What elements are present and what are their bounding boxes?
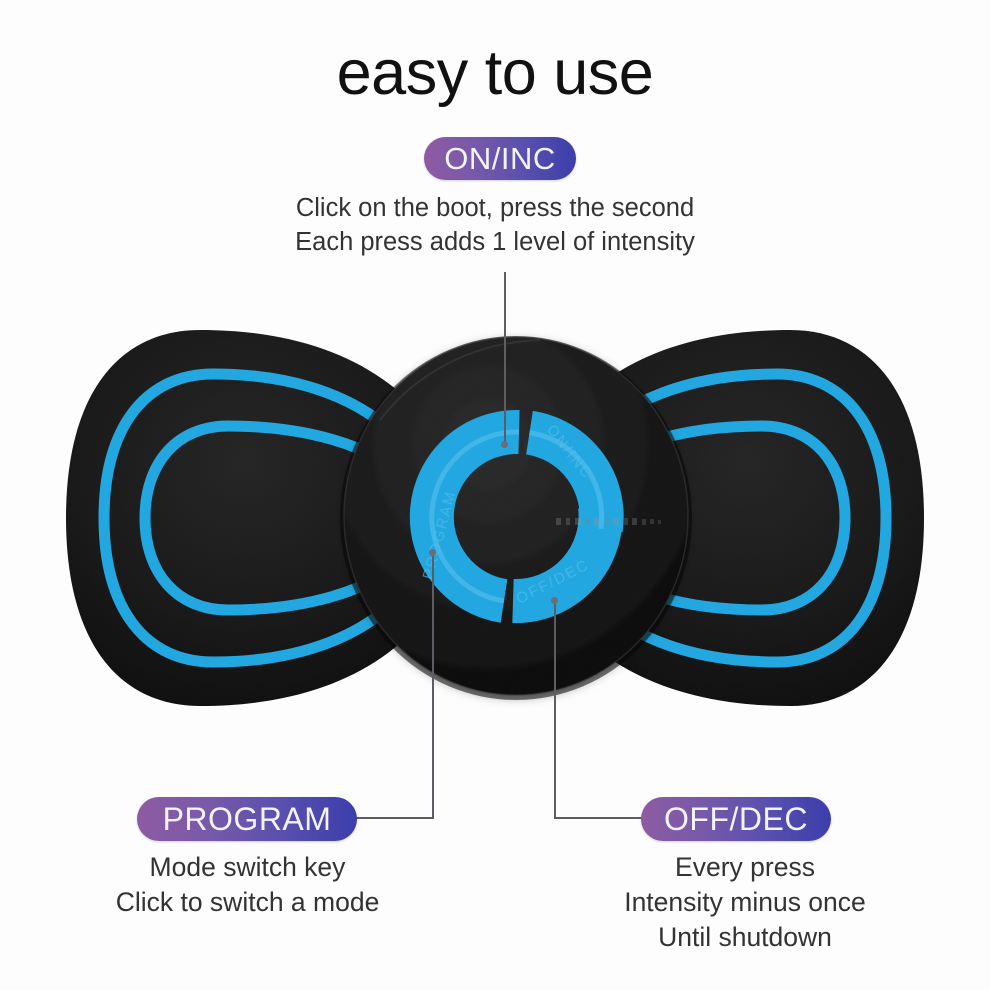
- description-off-dec: Every press Intensity minus once Until s…: [560, 850, 930, 955]
- device-right-wing: [528, 330, 924, 706]
- leader-dot-off-dec: [551, 597, 558, 604]
- control-ring-sheen: [432, 432, 602, 601]
- description-on-inc-line-1: Click on the boot, press the second: [0, 192, 990, 226]
- ring-segment-on-inc: [530, 433, 602, 529]
- device-control-disc: [340, 336, 692, 700]
- ring-engraved-labels: ON/INC PROGRAM OFF/DEC: [420, 422, 596, 608]
- leader-line-off-dec-horizontal: [554, 817, 642, 819]
- infographic-page: easy to use: [0, 0, 990, 990]
- description-program: Mode switch key Click to switch a mode: [0, 850, 495, 920]
- leader-line-off-dec-vertical: [554, 600, 556, 818]
- engraved-on-inc: ON/INC: [543, 422, 596, 483]
- badge-off-dec[interactable]: OFF/DEC: [641, 797, 831, 841]
- leader-line-program-vertical: [432, 552, 434, 818]
- leader-dot-on-inc: [501, 441, 508, 448]
- leader-dot-program: [429, 549, 436, 556]
- device-left-wing: [66, 330, 462, 706]
- description-program-line-2: Click to switch a mode: [0, 885, 495, 920]
- leader-line-program-horizontal: [356, 817, 434, 819]
- ring-segment-off-dec: [513, 506, 601, 601]
- page-title: easy to use: [0, 40, 990, 106]
- description-on-inc-line-2: Each press adds 1 level of intensity: [0, 226, 990, 260]
- leader-line-on-inc: [504, 272, 506, 445]
- embossed-brand-mark: [556, 518, 661, 525]
- ring-segment-program: [432, 432, 519, 601]
- description-off-dec-line-2: Intensity minus once: [560, 885, 930, 920]
- control-ring: [432, 432, 602, 601]
- description-off-dec-line-3: Until shutdown: [560, 920, 930, 955]
- badge-on-inc[interactable]: ON/INC: [424, 137, 576, 180]
- description-off-dec-line-1: Every press: [560, 850, 930, 885]
- description-program-line-1: Mode switch key: [0, 850, 495, 885]
- badge-program[interactable]: PROGRAM: [137, 797, 357, 841]
- description-on-inc: Click on the boot, press the second Each…: [0, 192, 990, 259]
- engraved-program: PROGRAM: [420, 488, 460, 581]
